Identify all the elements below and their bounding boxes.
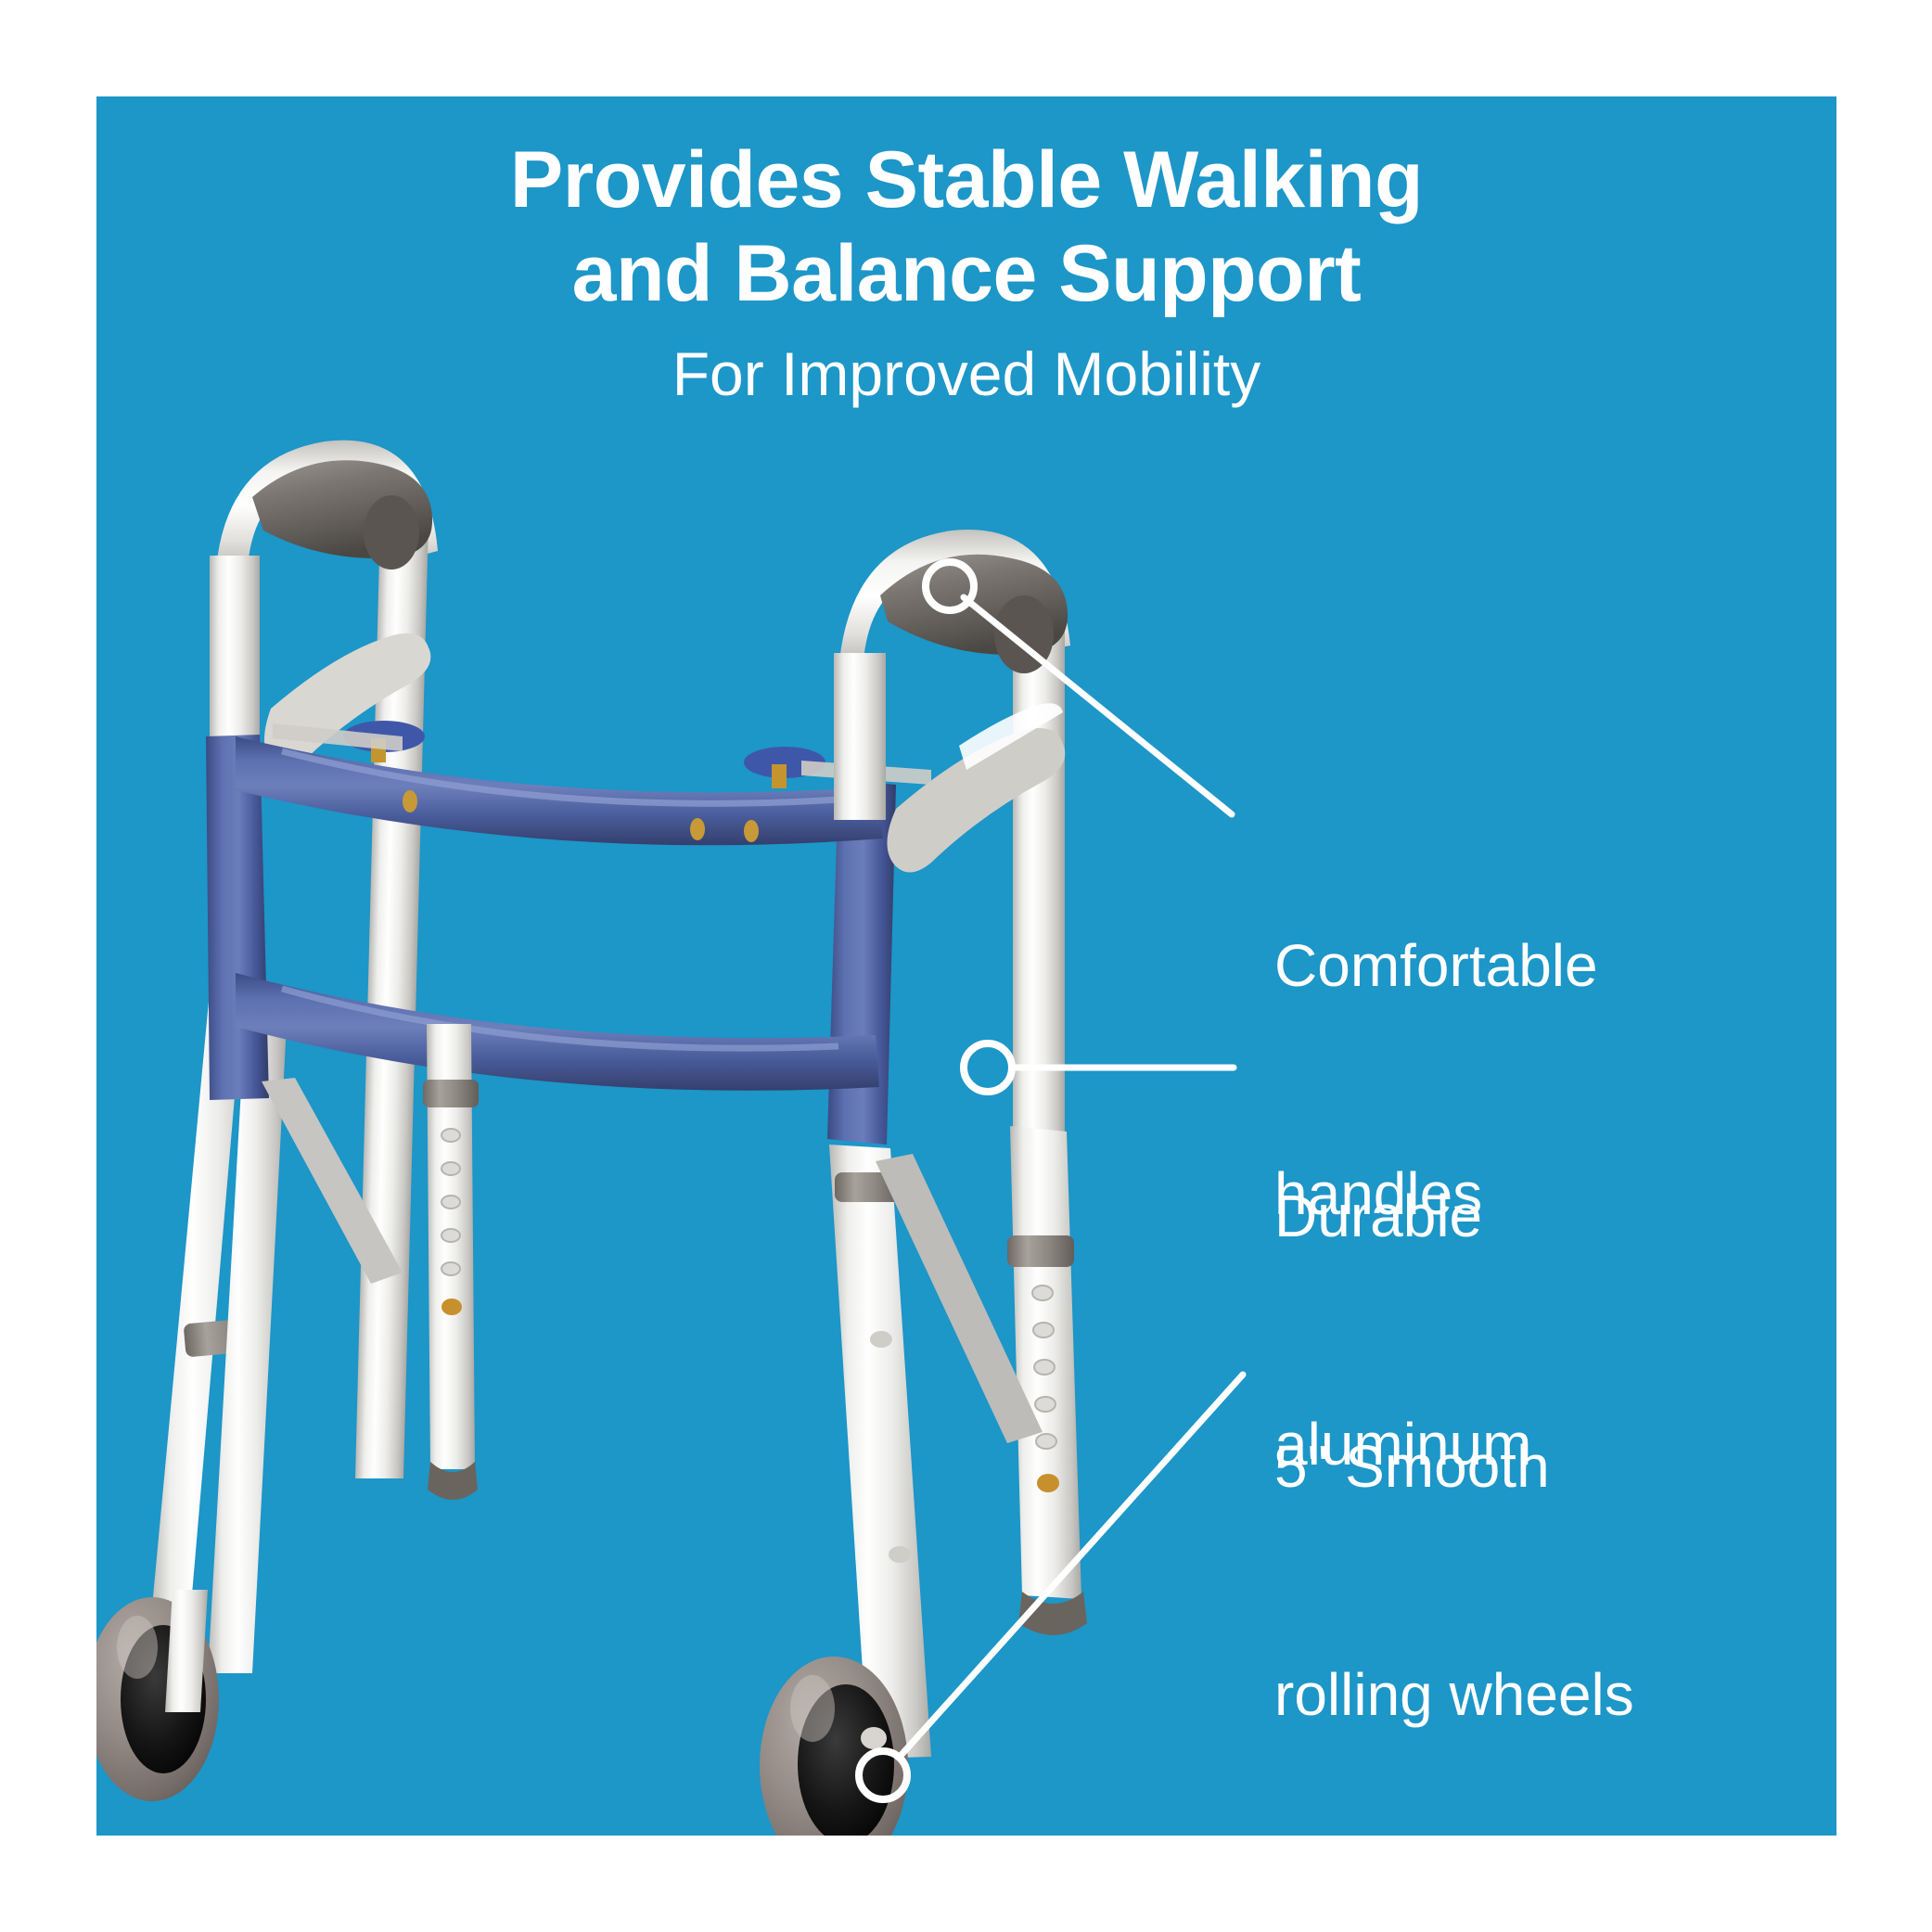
callout-line-1: 5" Smooth	[1274, 1429, 1634, 1505]
callout-marker-aluminum	[964, 1043, 1012, 1092]
walker-left-wheel	[96, 1590, 219, 1801]
walker-blue-frame	[206, 735, 896, 1145]
callout-line-2: rolling wheels	[1274, 1657, 1634, 1734]
callout-aluminum-leader	[964, 1043, 1234, 1092]
callout-line-1: Comfortable	[1274, 928, 1598, 1004]
callout-label-smooth-rolling-wheels: 5" Smooth rolling wheels	[1274, 1277, 1634, 1836]
page-title-line-1: Provides Stable Walking	[96, 134, 1836, 227]
page-title-line-2: and Balance Support	[96, 227, 1836, 321]
walker-far-center-leg	[423, 1024, 479, 1500]
blue-info-panel: Provides Stable Walking and Balance Supp…	[96, 96, 1836, 1836]
headline-block: Provides Stable Walking and Balance Supp…	[96, 134, 1836, 408]
image-canvas: Provides Stable Walking and Balance Supp…	[0, 0, 1932, 1932]
page-subtitle: For Improved Mobility	[96, 340, 1836, 408]
callout-line-1: Durable	[1274, 1179, 1531, 1255]
